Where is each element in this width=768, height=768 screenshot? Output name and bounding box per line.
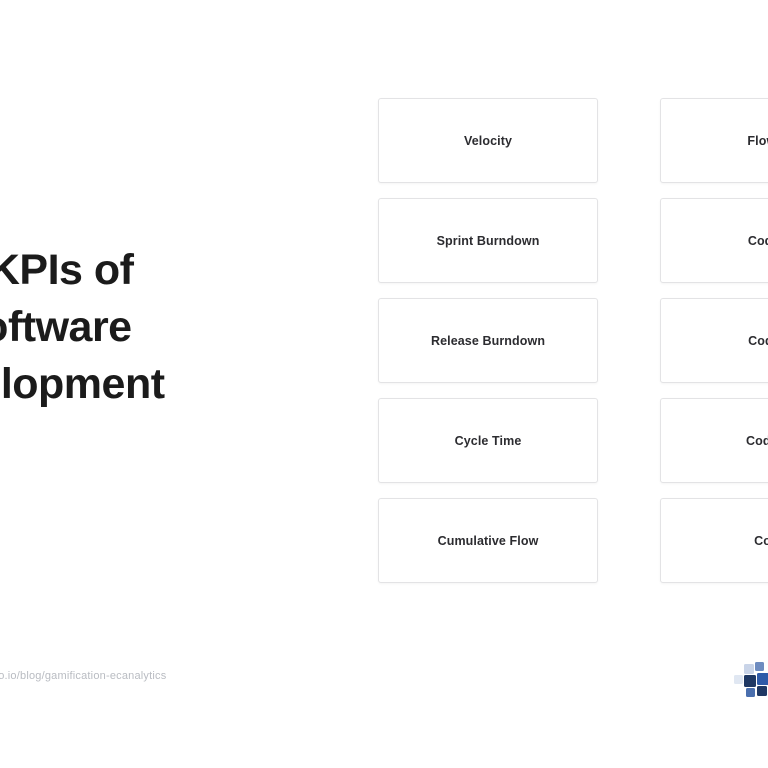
kpi-card-sprint-burndown[interactable]: Sprint Burndown bbox=[378, 198, 598, 283]
kpi-card-label: Code bbox=[754, 534, 768, 548]
kpi-card-code-churn[interactable]: Code bbox=[660, 498, 768, 583]
kpi-column-right: Flow Ef Code C Code S Code St Code bbox=[660, 98, 768, 583]
page-title: 0 KPIs of Software velopment bbox=[0, 242, 354, 412]
kpi-card-code-coverage[interactable]: Code C bbox=[660, 198, 768, 283]
title-line-1: 0 KPIs of bbox=[0, 242, 354, 299]
kpi-card-label: Code S bbox=[748, 334, 768, 348]
kpi-card-velocity[interactable]: Velocity bbox=[378, 98, 598, 183]
kpi-column-left: Velocity Sprint Burndown Release Burndow… bbox=[378, 98, 598, 583]
brand-logo-icon bbox=[726, 660, 768, 702]
kpi-card-cumulative-flow[interactable]: Cumulative Flow bbox=[378, 498, 598, 583]
kpi-card-code-stability[interactable]: Code St bbox=[660, 398, 768, 483]
slide-canvas: 0 KPIs of Software velopment Velocity Sp… bbox=[0, 0, 768, 768]
kpi-card-grid: Velocity Sprint Burndown Release Burndow… bbox=[378, 98, 768, 583]
kpi-card-label: Code St bbox=[746, 434, 768, 448]
kpi-card-label: Flow Ef bbox=[747, 134, 768, 148]
footer-source-url[interactable]: ltbo.io/blog/gamification-ecanalytics bbox=[0, 670, 166, 682]
kpi-card-label: Sprint Burndown bbox=[437, 234, 540, 248]
kpi-card-label: Release Burndown bbox=[431, 334, 545, 348]
kpi-card-label: Velocity bbox=[464, 134, 512, 148]
title-line-3: velopment bbox=[0, 356, 354, 413]
title-line-2: Software bbox=[0, 299, 354, 356]
kpi-card-label: Cumulative Flow bbox=[438, 534, 539, 548]
kpi-card-flow-efficiency[interactable]: Flow Ef bbox=[660, 98, 768, 183]
kpi-card-release-burndown[interactable]: Release Burndown bbox=[378, 298, 598, 383]
kpi-card-label: Cycle Time bbox=[455, 434, 522, 448]
kpi-card-cycle-time[interactable]: Cycle Time bbox=[378, 398, 598, 483]
kpi-card-label: Code C bbox=[748, 234, 768, 248]
kpi-card-code-simplicity[interactable]: Code S bbox=[660, 298, 768, 383]
